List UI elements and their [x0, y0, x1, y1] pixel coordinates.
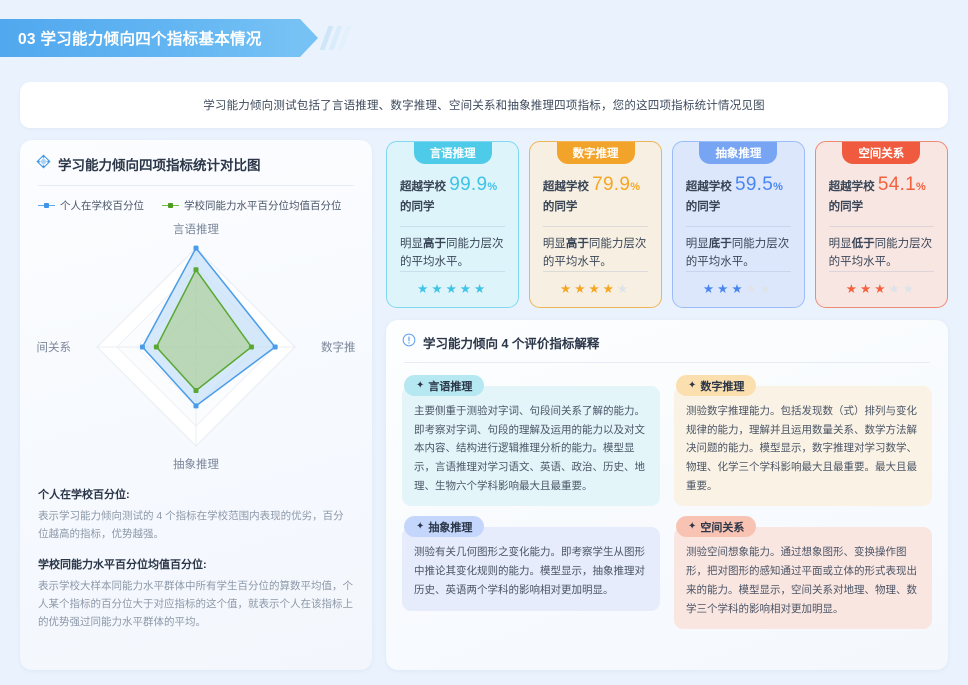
banner-slash-decoration	[324, 26, 347, 50]
explanation-item-tag: ✦数字推理	[676, 375, 756, 396]
stat-card-divider	[543, 226, 648, 227]
stat-card-unit: %	[916, 181, 926, 193]
legend-marker-school-average-icon	[162, 202, 179, 210]
star-rating-icons: ★★★★★	[703, 282, 774, 296]
sparkle-icon: ✦	[688, 380, 696, 391]
stat-card-unit: %	[630, 181, 640, 193]
radar-chart: 言语推理数字推理抽象推理空间关系	[36, 215, 356, 473]
stat-card-value: 54.1	[878, 174, 916, 195]
radar-axis-label: 抽象推理	[173, 457, 219, 471]
radar-data-point[interactable]	[194, 403, 199, 408]
note-heading-personal: 个人在学校百分位:	[38, 486, 354, 502]
explanation-item-tag: ✦空间关系	[676, 516, 756, 537]
explanation-item-tag: ✦抽象推理	[404, 516, 484, 537]
note-body-school-average: 表示学校大样本同能力水平群体中所有学生百分位的算数平均值，个人某个指标的百分位大…	[38, 577, 354, 631]
radar-data-point[interactable]	[194, 388, 199, 393]
stat-card-rating: ★★★★★	[829, 271, 934, 298]
sparkle-icon: ✦	[416, 380, 424, 391]
stat-card-divider	[400, 226, 505, 227]
explanation-item-tag-label: 数字推理	[700, 378, 744, 394]
radar-data-point[interactable]	[140, 345, 145, 350]
stat-card-verdict: 明显高于同能力层次的平均水平。	[400, 236, 505, 272]
stat-card-name: 抽象推理	[715, 145, 761, 161]
stat-card-tab: 数字推理	[557, 142, 635, 164]
intro-bar: 学习能力倾向测试包括了言语推理、数字推理、空间关系和抽象推理四项指标，您的这四项…	[20, 82, 948, 128]
info-circle-icon	[402, 333, 416, 352]
stat-card[interactable]: 抽象推理超越学校 59.5%的同学明显底于同能力层次的平均水平。★★★★★	[672, 141, 805, 308]
legend-label-personal: 个人在学校百分位	[60, 198, 144, 213]
stat-card-verdict: 明显底于同能力层次的平均水平。	[686, 236, 791, 272]
explanation-item-body: 测验有关几何图形之变化能力。即考察学生从图形中推论其变化规则的能力。模型显示，抽…	[402, 527, 660, 610]
chart-notes: 个人在学校百分位: 表示学习能力倾向测试的 4 个指标在学校范围内表现的优劣，百…	[36, 486, 356, 631]
stat-card-value: 59.5	[735, 174, 773, 195]
stat-card-unit: %	[487, 181, 497, 193]
note-heading-school-average: 学校同能力水平百分位均值百分位:	[38, 556, 354, 572]
stat-card[interactable]: 数字推理超越学校 79.9%的同学明显高于同能力层次的平均水平。★★★★★	[529, 141, 662, 308]
explanation-item-tag-label: 抽象推理	[428, 519, 472, 535]
explanation-divider	[404, 362, 930, 363]
radar-chart-svg: 言语推理数字推理抽象推理空间关系	[36, 215, 356, 473]
explanation-item-body: 测验数字推理能力。包括发现数（式）排列与变化规律的能力，理解并且运用数量关系、数…	[674, 386, 932, 506]
stat-card-name: 空间关系	[858, 145, 904, 161]
stat-card-unit: %	[773, 181, 783, 193]
stat-card-tab: 抽象推理	[699, 142, 777, 164]
star-rating-icons: ★★★★★	[417, 282, 488, 296]
stat-card-tab: 言语推理	[414, 142, 492, 164]
stat-card-rating: ★★★★★	[686, 271, 791, 298]
explanation-grid: ✦言语推理主要侧重于测验对字词、句段间关系了解的能力。即考察对字词、句段的理解及…	[402, 375, 932, 629]
stat-card-list: 言语推理超越学校 99.9%的同学明显高于同能力层次的平均水平。★★★★★数字推…	[386, 141, 948, 308]
panel-divider	[38, 185, 354, 186]
stat-card-name: 言语推理	[430, 145, 476, 161]
radar-chart-panel-header: 学习能力倾向四项指标统计对比图	[36, 154, 356, 174]
radar-chart-panel-title: 学习能力倾向四项指标统计对比图	[58, 154, 261, 174]
explanation-title: 学习能力倾向 4 个评价指标解释	[423, 333, 599, 352]
stat-card-rating: ★★★★★	[543, 271, 648, 298]
radar-chart-icon	[36, 154, 51, 174]
explanation-item: ✦言语推理主要侧重于测验对字词、句段间关系了解的能力。即考察对字词、句段的理解及…	[402, 375, 660, 506]
stat-card-prefix: 超越学校	[543, 181, 589, 193]
stat-card[interactable]: 言语推理超越学校 99.9%的同学明显高于同能力层次的平均水平。★★★★★	[386, 141, 519, 308]
chart-legend: 个人在学校百分位 学校同能力水平百分位均值百分位	[36, 198, 356, 213]
section-banner: 03 学习能力倾向四个指标基本情况	[0, 19, 347, 57]
stat-card-verdict: 明显高于同能力层次的平均水平。	[543, 236, 648, 272]
stat-card-suffix: 的同学	[543, 201, 578, 213]
explanation-item-body: 测验空间想象能力。通过想象图形、变换操作图形，把对图形的感知通过平面或立体的形式…	[674, 527, 932, 629]
intro-text: 学习能力倾向测试包括了言语推理、数字推理、空间关系和抽象推理四项指标，您的这四项…	[203, 97, 765, 113]
stat-card-suffix: 的同学	[400, 201, 435, 213]
stat-card-percentile: 超越学校 99.9%的同学	[400, 170, 505, 217]
stat-card-percentile: 超越学校 54.1%的同学	[829, 170, 934, 217]
explanation-item-tag-label: 空间关系	[700, 519, 744, 535]
explanation-item: ✦数字推理测验数字推理能力。包括发现数（式）排列与变化规律的能力，理解并且运用数…	[674, 375, 932, 506]
radar-data-point[interactable]	[194, 267, 199, 272]
stat-card-tab: 空间关系	[842, 142, 920, 164]
sparkle-icon: ✦	[416, 521, 424, 532]
explanation-header: 学习能力倾向 4 个评价指标解释	[402, 333, 932, 352]
stat-card-verdict: 明显低于同能力层次的平均水平。	[829, 236, 934, 272]
star-rating-icons: ★★★★★	[846, 282, 917, 296]
stat-card[interactable]: 空间关系超越学校 54.1%的同学明显低于同能力层次的平均水平。★★★★★	[815, 141, 948, 308]
stat-card-name: 数字推理	[573, 145, 619, 161]
explanation-item-tag-label: 言语推理	[428, 378, 472, 394]
explanation-item: ✦抽象推理测验有关几何图形之变化能力。即考察学生从图形中推论其变化规则的能力。模…	[402, 516, 660, 629]
stat-card-prefix: 超越学校	[686, 181, 732, 193]
stat-card-percentile: 超越学校 79.9%的同学	[543, 170, 648, 217]
legend-marker-personal-icon	[38, 202, 55, 210]
stat-card-divider	[686, 226, 791, 227]
radar-data-point[interactable]	[154, 345, 159, 350]
explanation-item: ✦空间关系测验空间想象能力。通过想象图形、变换操作图形，把对图形的感知通过平面或…	[674, 516, 932, 629]
legend-item-school-average[interactable]: 学校同能力水平百分位均值百分位	[162, 198, 342, 213]
stat-card-rating: ★★★★★	[400, 271, 505, 298]
radar-chart-panel: 学习能力倾向四项指标统计对比图 个人在学校百分位 学校同能力水平百分位均值百分位…	[20, 140, 372, 670]
stat-card-value: 79.9	[592, 174, 630, 195]
stat-card-prefix: 超越学校	[400, 181, 446, 193]
stat-card-percentile: 超越学校 59.5%的同学	[686, 170, 791, 217]
sparkle-icon: ✦	[688, 521, 696, 532]
section-banner-body: 03 学习能力倾向四个指标基本情况	[0, 19, 300, 57]
note-body-personal: 表示学习能力倾向测试的 4 个指标在学校范围内表现的优劣，百分位越高的指标，优势…	[38, 507, 354, 543]
radar-data-point[interactable]	[194, 246, 199, 251]
stat-card-divider	[829, 226, 934, 227]
radar-data-point[interactable]	[249, 345, 254, 350]
radar-data-point[interactable]	[273, 345, 278, 350]
legend-item-personal[interactable]: 个人在学校百分位	[38, 198, 144, 213]
section-banner-title: 03 学习能力倾向四个指标基本情况	[18, 27, 262, 49]
radar-axis-label: 言语推理	[173, 222, 219, 236]
star-rating-icons: ★★★★★	[560, 282, 631, 296]
stat-card-value: 99.9	[449, 174, 487, 195]
radar-axis-label: 空间关系	[36, 340, 71, 354]
stat-card-suffix: 的同学	[829, 201, 864, 213]
radar-axis-label: 数字推理	[321, 340, 356, 354]
stat-card-prefix: 超越学校	[829, 181, 875, 193]
explanation-item-tag: ✦言语推理	[404, 375, 484, 396]
explanation-item-body: 主要侧重于测验对字词、句段间关系了解的能力。即考察对字词、句段的理解及运用的能力…	[402, 386, 660, 506]
legend-label-school-average: 学校同能力水平百分位均值百分位	[184, 198, 342, 213]
stat-card-suffix: 的同学	[686, 201, 721, 213]
explanation-panel: 学习能力倾向 4 个评价指标解释 ✦言语推理主要侧重于测验对字词、句段间关系了解…	[386, 320, 948, 670]
